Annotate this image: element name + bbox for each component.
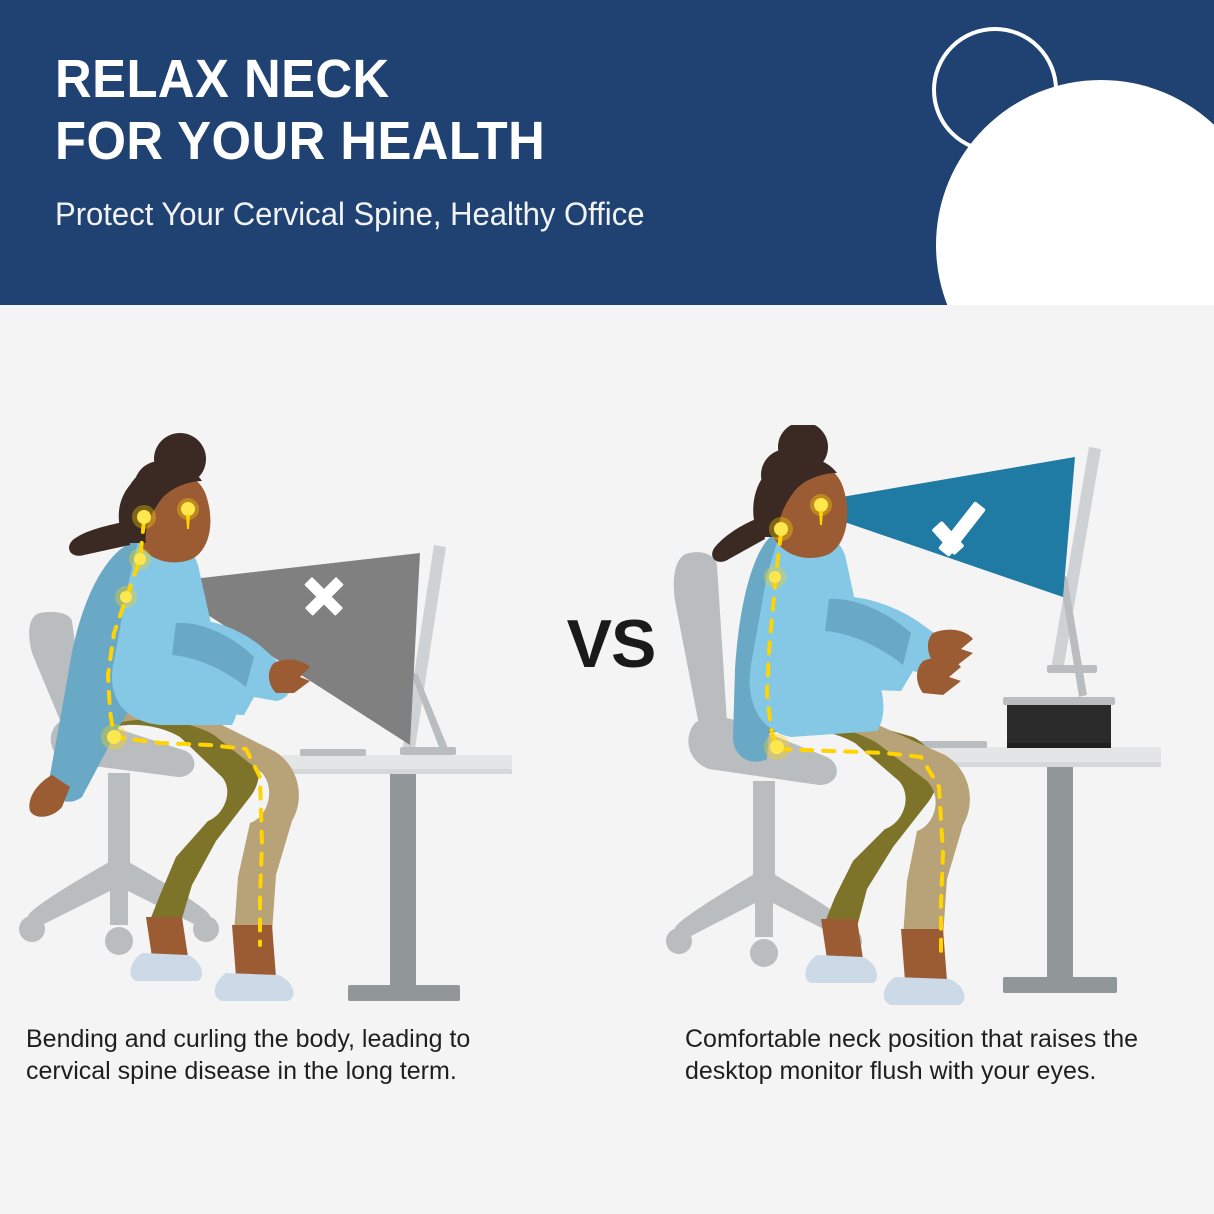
monitor-riser bbox=[1003, 697, 1115, 748]
decorative-ring-outline bbox=[932, 27, 1058, 153]
caption-bad-posture: Bending and curling the body, leading to… bbox=[26, 1023, 541, 1087]
page-title-line-1: RELAX NECK bbox=[55, 48, 626, 110]
infographic-page: { "header": { "title_line1": "RELAX NECK… bbox=[0, 0, 1214, 1214]
header-text-group: RELAX NECK FOR YOUR HEALTH Protect Your … bbox=[55, 48, 663, 234]
illustration-good-posture bbox=[655, 425, 1214, 1045]
standing-desk bbox=[282, 755, 512, 1001]
seated-person-bad bbox=[29, 433, 310, 1001]
page-title-line-2: FOR YOUR HEALTH bbox=[55, 110, 626, 172]
panel-bad-posture: Bending and curling the body, leading to… bbox=[10, 305, 570, 1214]
panel-good-posture: Comfortable neck position that raises th… bbox=[655, 305, 1214, 1214]
comparison-area: Bending and curling the body, leading to… bbox=[0, 305, 1214, 1214]
keyboard bbox=[919, 741, 987, 748]
caption-good-posture: Comfortable neck position that raises th… bbox=[685, 1023, 1200, 1087]
page-subtitle: Protect Your Cervical Spine, Healthy Off… bbox=[55, 194, 644, 234]
vs-label: VS bbox=[556, 605, 666, 683]
keyboard bbox=[300, 749, 366, 756]
illustration-bad-posture bbox=[10, 425, 570, 1045]
header-banner: RELAX NECK FOR YOUR HEALTH Protect Your … bbox=[0, 0, 1214, 305]
